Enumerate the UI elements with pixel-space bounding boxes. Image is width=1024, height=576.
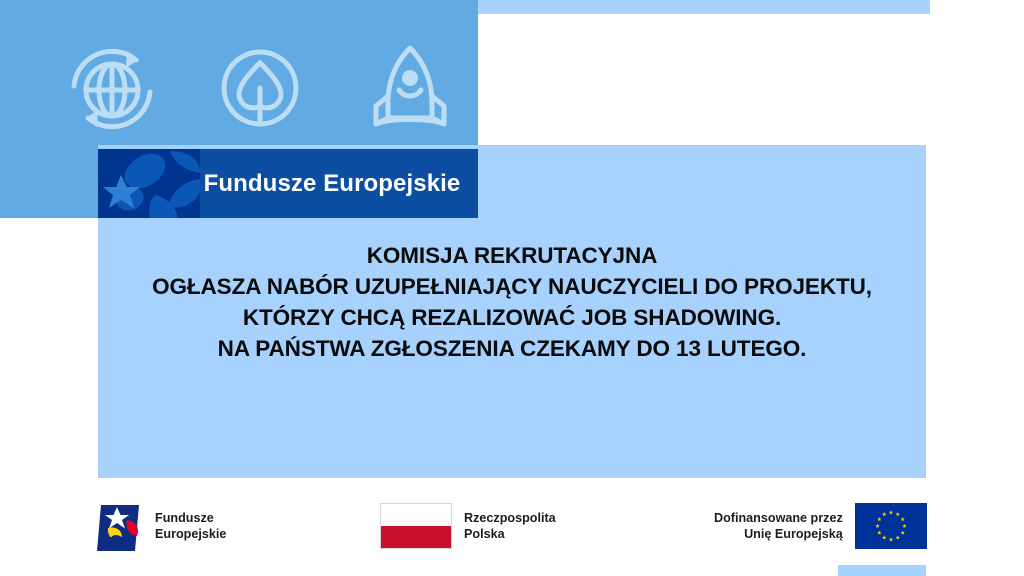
european-union-flag <box>855 503 927 549</box>
polish-flag <box>380 503 452 549</box>
footer-fundusze-europejskie: Fundusze Europejskie <box>93 501 226 551</box>
polish-flag-white-band <box>381 504 451 526</box>
announcement-line-4: NA PAŃSTWA ZGŁOSZENIA CZEKAMY DO 13 LUTE… <box>98 333 926 364</box>
brand-bar-title: Fundusze Europejskie <box>200 149 478 218</box>
fundusze-europejskie-logo <box>93 501 143 551</box>
announcement-line-2: OGŁASZA NABÓR UZUPEŁNIAJĄCY NAUCZYCIELI … <box>98 271 926 302</box>
announcement-line-3: KTÓRZY CHCĄ REZALIZOWAĆ JOB SHADOWING. <box>98 302 926 333</box>
footer-european-union: Dofinansowane przez Unię Europejską <box>714 503 927 549</box>
european-union-label: Dofinansowane przez Unię Europejską <box>714 510 843 542</box>
rocket-person-icon <box>360 38 460 138</box>
bottom-accent-strip <box>838 565 926 576</box>
polish-flag-red-band <box>381 526 451 548</box>
top-accent-strip <box>478 0 930 14</box>
fe-star-pattern <box>98 149 200 218</box>
hero-icon-row <box>60 38 460 138</box>
announcement-line-1: KOMISJA REKRUTACYJNA <box>98 240 926 271</box>
rzeczpospolita-polska-label: Rzeczpospolita Polska <box>464 510 556 542</box>
fundusze-europejskie-brand-bar: Fundusze Europejskie <box>98 149 478 218</box>
tree-circle-icon <box>210 38 310 138</box>
footer-rzeczpospolita-polska: Rzeczpospolita Polska <box>380 503 556 549</box>
fundusze-europejskie-label: Fundusze Europejskie <box>155 510 226 542</box>
footer-logo-bar: Fundusze Europejskie Rzeczpospolita Pols… <box>0 497 1024 559</box>
announcement-text: KOMISJA REKRUTACYJNA OGŁASZA NABÓR UZUPE… <box>98 240 926 364</box>
globe-recycle-icon <box>60 38 160 138</box>
